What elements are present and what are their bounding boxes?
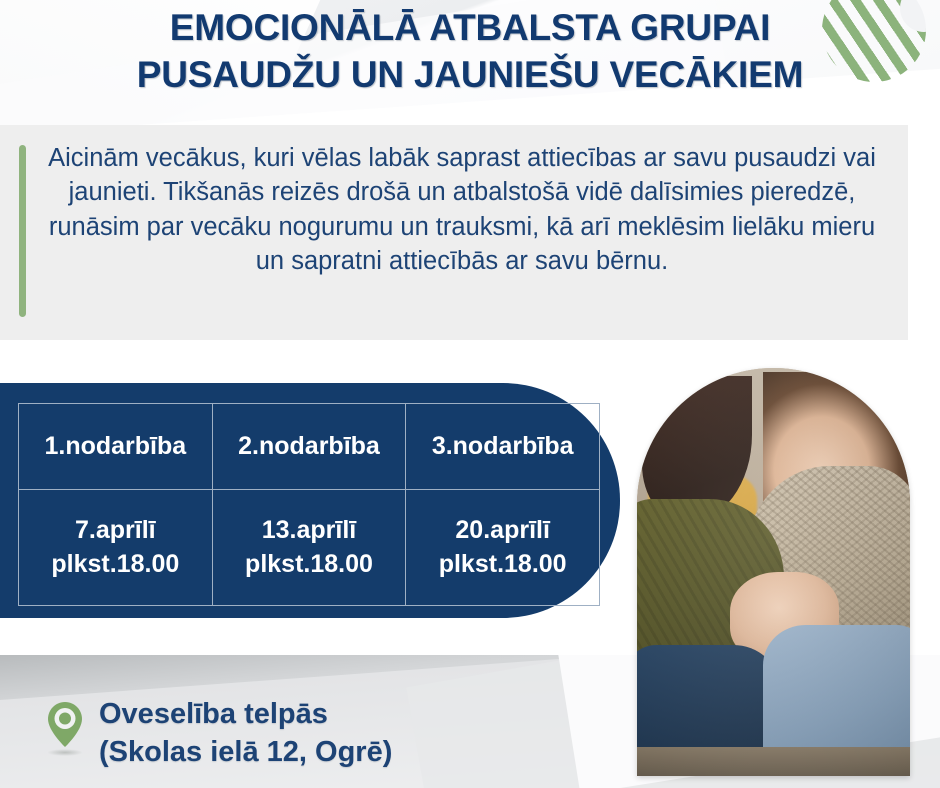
intro-line-3: Tikšanās reizēs drošā un atbalstošā vidē… [163, 178, 743, 206]
session-date-1: 7.aprīlī [20, 514, 211, 548]
session-header-cell-1: 1.nodarbība [19, 404, 213, 490]
page-title: EMOCIONĀLĀ ATBALSTA GRUPAI PUSAUDŽU UN J… [0, 4, 940, 99]
sessions-block: 1.nodarbība 2.nodarbība 3.nodarbība 7.ap… [0, 383, 620, 618]
intro-paragraph: Aicinām vecākus, kuri vēlas labāk sapras… [38, 141, 886, 279]
two-people-holding-hands-photo [637, 368, 910, 776]
venue-text: Oveselība telpās (Skolas ielā 12, Ogrē) [99, 696, 392, 771]
session-time-2: plkst.18.00 [214, 548, 405, 582]
location-pin-icon [45, 700, 85, 756]
page-title-line-2: PUSAUDŽU UN JAUNIEŠU VECĀKIEM [0, 51, 940, 98]
sessions-header-row: 1.nodarbība 2.nodarbība 3.nodarbība [19, 404, 600, 490]
sessions-date-row: 7.aprīlī plkst.18.00 13.aprīlī plkst.18.… [19, 490, 600, 606]
poster-root: EMOCIONĀLĀ ATBALSTA GRUPAI PUSAUDŽU UN J… [0, 0, 940, 788]
session-date-3: 20.aprīlī [407, 514, 598, 548]
session-datetime-cell-2: 13.aprīlī plkst.18.00 [212, 490, 406, 606]
session-datetime-cell-3: 20.aprīlī plkst.18.00 [406, 490, 600, 606]
session-time-3: plkst.18.00 [407, 548, 598, 582]
session-date-2: 13.aprīlī [214, 514, 405, 548]
intro-panel: Aicinām vecākus, kuri vēlas labāk sapras… [0, 125, 908, 340]
location-pin-glyph [45, 700, 85, 750]
sessions-table: 1.nodarbība 2.nodarbība 3.nodarbība 7.ap… [18, 403, 600, 606]
session-time-1: plkst.18.00 [20, 548, 211, 582]
venue-name: Oveselība telpās [99, 696, 392, 734]
intro-accent-bar [19, 145, 26, 317]
venue-info: Oveselība telpās (Skolas ielā 12, Ogrē) [45, 696, 392, 771]
location-pin-shadow [47, 749, 83, 756]
session-header-cell-3: 3.nodarbība [406, 404, 600, 490]
session-datetime-cell-1: 7.aprīlī plkst.18.00 [19, 490, 213, 606]
photo-overlay [637, 368, 910, 776]
page-title-line-1: EMOCIONĀLĀ ATBALSTA GRUPAI [170, 7, 770, 48]
intro-line-1: Aicinām vecākus, kuri vēlas labāk sapras… [48, 144, 727, 172]
session-header-cell-2: 2.nodarbība [212, 404, 406, 490]
venue-address: (Skolas ielā 12, Ogrē) [99, 734, 392, 772]
